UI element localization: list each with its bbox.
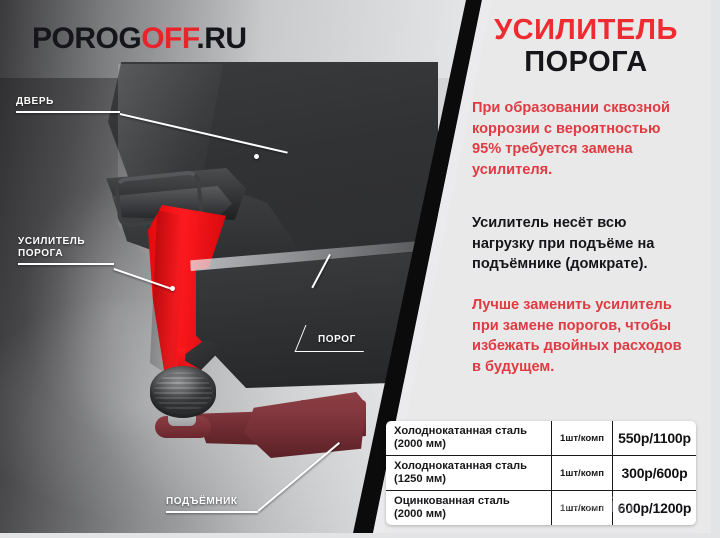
table-cell-material: Оцинкованная сталь (2000 мм) <box>386 491 552 525</box>
logo-text-porog: POROG <box>32 22 141 55</box>
paragraph-load: Усилитель несёт всю нагрузку при подъёме… <box>472 213 684 275</box>
logo-text-ru: .RU <box>196 22 246 55</box>
table-cell-qty: 1шт/комп <box>552 456 613 490</box>
frame-right-edge <box>711 0 720 538</box>
price-table: Холоднокатанная сталь (2000 мм) 1шт/комп… <box>386 421 696 525</box>
callout-reinforcement-underline <box>18 263 114 265</box>
frame-bottom-edge <box>0 533 720 538</box>
table-cell-price: 550р/1100р <box>613 421 696 455</box>
callout-jack-underline <box>166 511 258 513</box>
table-cell-price: 300р/600р <box>613 456 696 490</box>
headline-line-2: ПОРОГА <box>470 46 702 79</box>
logo-text-off: OFF <box>141 22 196 55</box>
material-name: Холоднокатанная сталь <box>394 460 546 473</box>
headline-line-1: УСИЛИТЕЛЬ <box>470 14 702 46</box>
material-size: (1250 мм) <box>394 473 546 486</box>
table-cell-price: 600р/1200р <box>613 491 696 525</box>
callout-reinforcement: УСИЛИТЕЛЬ ПОРОГА <box>18 236 114 265</box>
table-cell-qty: 1шт/комп <box>552 491 613 525</box>
paragraph-advice: Лучше заменить усилитель при замене поро… <box>472 295 684 377</box>
material-size: (2000 мм) <box>394 508 546 521</box>
callout-sill-label: ПОРОГ <box>318 334 356 345</box>
lift-rubber-pad-ribs <box>154 372 212 412</box>
material-name: Холоднокатанная сталь <box>394 425 546 438</box>
callout-jack-label: ПОДЪЁМНИК <box>166 496 258 508</box>
table-cell-material: Холоднокатанная сталь (2000 мм) <box>386 421 552 455</box>
callout-door-underline <box>16 111 120 113</box>
callout-door-leader-dot <box>254 154 259 159</box>
material-name: Оцинкованная сталь <box>394 495 546 508</box>
site-logo[interactable]: POROGOFF.RU <box>32 22 247 56</box>
callout-door: ДВЕРЬ <box>16 96 120 113</box>
table-row: Оцинкованная сталь (2000 мм) 1шт/комп 60… <box>386 491 696 525</box>
callout-sill: ПОРОГ <box>300 325 360 345</box>
headline: УСИЛИТЕЛЬ ПОРОГА <box>470 14 702 79</box>
callout-reinforcement-label: УСИЛИТЕЛЬ ПОРОГА <box>18 236 114 260</box>
callout-reinforcement-leader-dot <box>170 286 175 291</box>
material-size: (2000 мм) <box>394 438 546 451</box>
table-row: Холоднокатанная сталь (2000 мм) 1шт/комп… <box>386 421 696 456</box>
table-cell-qty: 1шт/комп <box>552 421 613 455</box>
paragraph-corrosion: При образовании сквозной коррозии с веро… <box>472 98 684 180</box>
callout-door-label: ДВЕРЬ <box>16 96 120 108</box>
advertisement-image: ДВЕРЬ УСИЛИТЕЛЬ ПОРОГА ПОРОГ ПОДЪЁМНИК P… <box>0 0 720 538</box>
table-row: Холоднокатанная сталь (1250 мм) 1шт/комп… <box>386 456 696 491</box>
callout-jack: ПОДЪЁМНИК <box>166 496 258 513</box>
table-cell-material: Холоднокатанная сталь (1250 мм) <box>386 456 552 490</box>
